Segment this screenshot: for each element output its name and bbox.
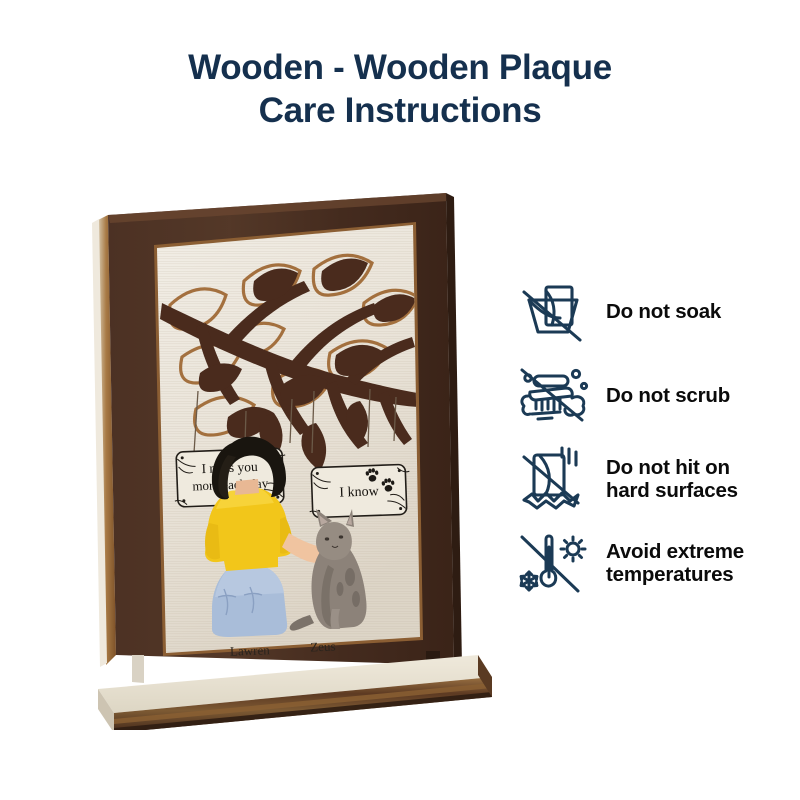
no-soak-icon [512, 274, 594, 348]
plaque-illustration: I miss you more each day I know [78, 185, 498, 730]
care-label-line-1: Do not soak [606, 300, 721, 323]
care-instructions-list: Do not soak [512, 272, 800, 608]
care-label-line-1: Do not scrub [606, 384, 730, 407]
page-title-line-2: Care Instructions [0, 89, 800, 132]
care-instruction-item-no-temperature: Avoid extreme temperatures [512, 524, 800, 602]
plaque-base-stand [98, 651, 492, 730]
no-impact-icon [512, 442, 594, 516]
care-label-line-1: Do not hit on [606, 456, 730, 479]
no-scrub-icon [512, 358, 594, 432]
name-label-person: Lawren [230, 642, 271, 658]
care-instruction-item-no-soak: Do not soak [512, 272, 800, 350]
page-title: Wooden - Wooden Plaque Care Instructions [0, 46, 800, 132]
care-instruction-label-no-scrub: Do not scrub [606, 384, 730, 407]
sign-right-line-1: I know [339, 484, 380, 500]
page-title-line-1: Wooden - Wooden Plaque [0, 46, 800, 89]
care-label-line-2: temperatures [606, 563, 744, 586]
care-instruction-label-no-temperature: Avoid extreme temperatures [606, 540, 744, 586]
care-label-line-2: hard surfaces [606, 479, 738, 502]
screenshot-canvas: Wooden - Wooden Plaque Care Instructions [0, 0, 800, 800]
care-instruction-item-no-scrub: Do not scrub [512, 356, 800, 434]
care-instruction-item-no-impact: Do not hit on hard surfaces [512, 440, 800, 518]
care-label-line-1: Avoid extreme [606, 540, 744, 563]
name-label-pet: Zeus [310, 639, 336, 655]
no-temperature-icon [512, 526, 594, 600]
care-instruction-label-no-impact: Do not hit on hard surfaces [606, 456, 738, 502]
product-image-wooden-plaque: I miss you more each day I know [78, 185, 498, 730]
hanging-sign-right: I know [308, 464, 411, 517]
care-instruction-label-no-soak: Do not soak [606, 300, 721, 323]
